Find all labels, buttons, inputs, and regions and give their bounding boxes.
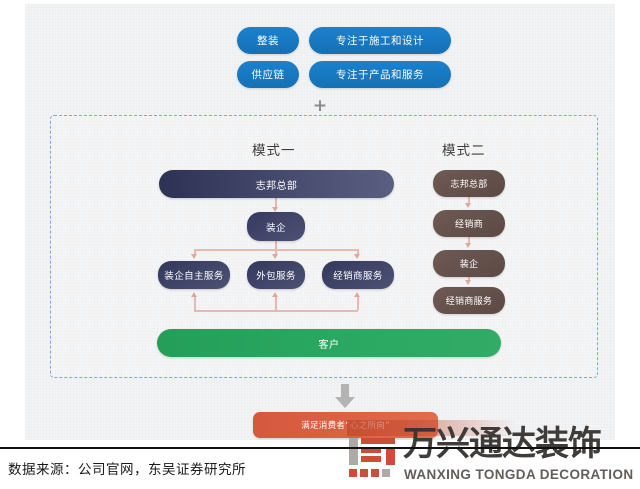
plus-icon: + <box>25 98 615 115</box>
node-dealer[interactable]: 经销商 <box>433 210 505 237</box>
down-arrow-icon <box>335 384 355 408</box>
mode-one-heading: 模式一 <box>252 139 296 159</box>
arrowhead-rise-mid <box>272 292 278 297</box>
node-customer[interactable]: 客户 <box>157 329 501 357</box>
figure-panel: 整装 专注于施工和设计 供应链 专注于产品和服务 + 模式一 模式二 志邦总部 … <box>25 4 615 440</box>
mode-two-heading: 模式二 <box>442 139 486 159</box>
arrowhead-drop-left <box>191 254 197 259</box>
arrowhead-m2-1 <box>465 203 471 208</box>
connector-zhuangqi-down <box>275 241 277 249</box>
node-decor-company-mode-two[interactable]: 装企 <box>433 250 505 277</box>
watermark-english-text: WANXING TONGDA DECORATION <box>404 468 634 482</box>
footer-source-text: 数据来源：公司官网，东吴证券研究所 <box>8 458 246 478</box>
node-headquarters-mode-two[interactable]: 志邦总部 <box>433 170 505 197</box>
arrowhead-m2-2 <box>465 243 471 248</box>
node-dealer-service-mode-one[interactable]: 经销商服务 <box>322 261 394 289</box>
footer-divider <box>0 447 640 449</box>
node-dealer-service-mode-two[interactable]: 经销商服务 <box>433 287 505 314</box>
node-decor-company[interactable]: 装企 <box>247 212 305 241</box>
arrowhead-drop-right <box>354 254 360 259</box>
watermark-mark-icon <box>347 432 399 480</box>
tag-zhengzhuang[interactable]: 整装 <box>237 27 299 54</box>
watermark-chinese-text: 万兴通达装饰 <box>403 427 601 461</box>
node-outsource-service[interactable]: 外包服务 <box>247 261 305 289</box>
arrowhead-rise-left <box>191 292 197 297</box>
top-tag-row-2: 供应链 专注于产品和服务 <box>237 61 451 88</box>
watermark-logo: 万兴通达装饰 WANXING TONGDA DECORATION <box>347 424 637 486</box>
tag-focus-product-service[interactable]: 专注于产品和服务 <box>309 61 451 88</box>
connector-converge-bus <box>194 310 358 312</box>
top-tag-row-1: 整装 专注于施工和设计 <box>237 27 451 54</box>
tag-supply-chain[interactable]: 供应链 <box>237 61 299 88</box>
connector-rise-right <box>357 296 359 310</box>
node-self-service[interactable]: 装企自主服务 <box>158 261 230 289</box>
arrowhead-rise-right <box>354 292 360 297</box>
arrowhead-m2-3 <box>465 280 471 285</box>
arrowhead-drop-mid <box>272 254 278 259</box>
connector-rise-left <box>194 296 196 310</box>
node-headquarters-mode-one[interactable]: 志邦总部 <box>159 170 394 198</box>
tag-focus-construction-design[interactable]: 专注于施工和设计 <box>309 27 451 54</box>
connector-rise-mid <box>275 296 277 310</box>
